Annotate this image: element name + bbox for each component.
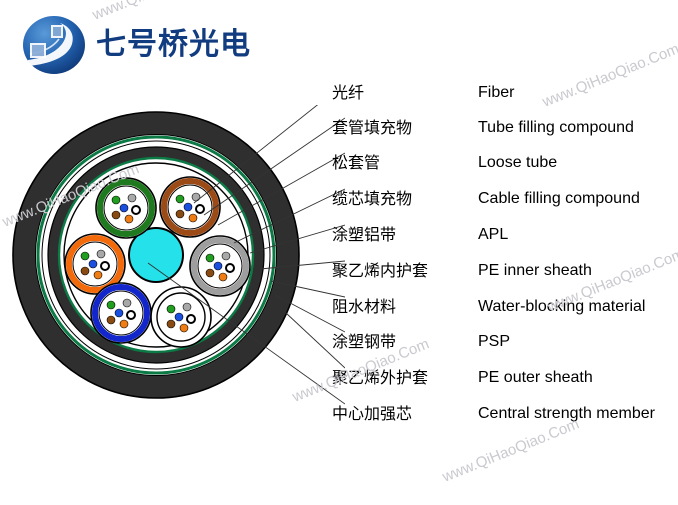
diagram-page: 七号桥光电 — [0, 0, 678, 505]
bridge-globe-logo-icon — [20, 14, 88, 76]
label-en-pe-inner-sheath: PE inner sheath — [478, 260, 592, 282]
watermark: www.QiHaoQiao.Com — [440, 415, 582, 485]
label-en-psp: PSP — [478, 331, 510, 353]
loose-tube-grey — [190, 236, 250, 296]
label-en-loose-tube: Loose tube — [478, 152, 557, 174]
loose-tube-blue — [91, 283, 151, 343]
loose-tube-brown — [160, 177, 220, 237]
label-cn-fiber: 光纤 — [332, 82, 364, 104]
label-en-tube-filling-compound: Tube filling compound — [478, 117, 634, 139]
watermark: www.QiHaoQiao.Com — [545, 245, 678, 315]
label-en-fiber: Fiber — [478, 82, 514, 104]
watermark: www.QiHaoQiao.Com — [540, 40, 678, 110]
label-en-pe-outer-sheath: PE outer sheath — [478, 367, 593, 389]
label-en-cable-filling-compound: Cable filling compound — [478, 188, 640, 210]
label-cn-central-strength-member: 中心加强芯 — [332, 403, 412, 425]
label-en-apl: APL — [478, 224, 508, 246]
cable-cross-section-diagram — [0, 105, 345, 405]
label-cn-pe-inner-sheath: 聚乙烯内护套 — [332, 260, 428, 282]
loose-tube-white — [151, 287, 211, 347]
brand-name: 七号桥光电 — [96, 30, 251, 60]
brand-logo: 七号桥光电 — [20, 10, 250, 80]
